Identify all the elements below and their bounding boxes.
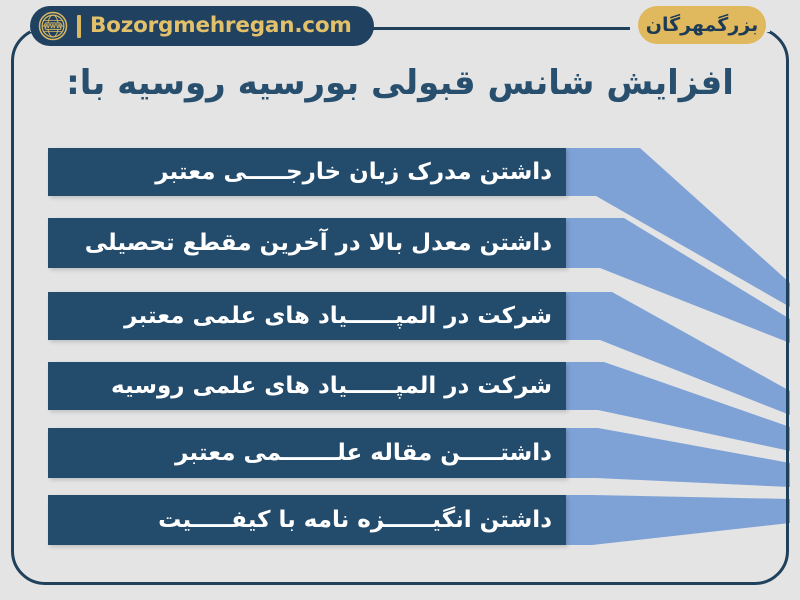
list-item[interactable]: داشتن معدل بالا در آخرین مقطع تحصیلی [48, 218, 566, 268]
list-item[interactable]: داشتـــــن مقاله علـــــــمی معتبر [48, 428, 566, 478]
list-item-label: شرکت در المپــــــیاد های علمی روسیه [62, 373, 552, 399]
brand-name-label: بزرگمهرگان [646, 16, 758, 35]
list-item[interactable]: داشتن انگیــــــزه نامه با کیفـــــیت [48, 495, 566, 545]
page-title: افزایش شانس قبولی بورسیه روسیه با: [0, 62, 800, 105]
site-name-label: Bozorgmehregan.com [90, 15, 352, 37]
list-item-label: شرکت در المپــــــیاد های علمی معتبر [62, 303, 552, 329]
list-item[interactable]: شرکت در المپــــــیاد های علمی معتبر [48, 292, 566, 340]
list-item[interactable]: شرکت در المپــــــیاد های علمی روسیه [48, 362, 566, 410]
list-item-label: داشتن مدرک زبان خارجـــــی معتبر [62, 159, 552, 185]
infographic-page: WWW Bozorgmehregan.com بزرگمهرگان افزایش… [0, 0, 800, 600]
site-logo-pill[interactable]: WWW Bozorgmehregan.com [30, 6, 374, 46]
logo-divider [77, 15, 81, 38]
globe-icon-text: WWW [44, 24, 62, 30]
list-item-label: داشتـــــن مقاله علـــــــمی معتبر [62, 440, 552, 466]
list-item-label: داشتن انگیــــــزه نامه با کیفـــــیت [62, 507, 552, 533]
brand-pill[interactable]: بزرگمهرگان [638, 6, 766, 44]
list-item-label: داشتن معدل بالا در آخرین مقطع تحصیلی [62, 230, 552, 256]
ribbon-6 [566, 495, 790, 545]
list-item[interactable]: داشتن مدرک زبان خارجـــــی معتبر [48, 148, 566, 196]
globe-www-icon: WWW [38, 11, 68, 41]
